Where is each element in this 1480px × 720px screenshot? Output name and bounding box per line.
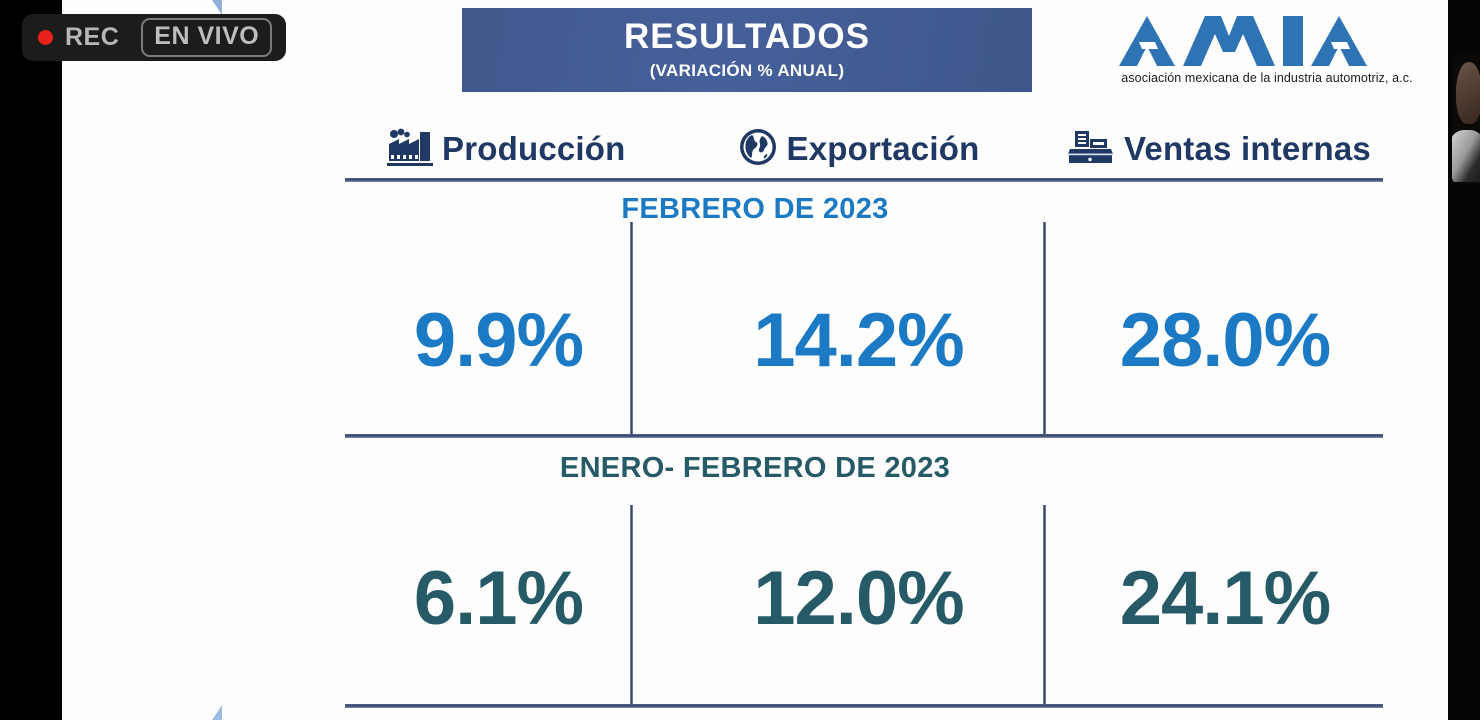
value-ventas-febrero: 28.0% [1065, 297, 1385, 384]
white-curve-shape [62, 0, 312, 720]
value-produccion-febrero: 9.9% [345, 297, 652, 384]
column-header-exportacion: Exportación [652, 127, 1065, 172]
record-dot-icon [38, 30, 53, 45]
live-badge: EN VIVO [141, 18, 272, 57]
divider-bottom-rule [345, 704, 1383, 708]
globe-icon [738, 127, 778, 172]
slide-title-banner: RESULTADOS (VARIACIÓN % ANUAL) [462, 8, 1032, 92]
column-header-ventas-internas: Ventas internas [1065, 127, 1385, 172]
value-row-febrero: 9.9% 14.2% 28.0% [345, 285, 1385, 395]
page-title: RESULTADOS [624, 19, 870, 56]
divider-header-rule [345, 178, 1383, 182]
participant-video-tile[interactable] [1452, 52, 1480, 184]
cash-register-icon [1065, 127, 1115, 172]
rec-label: REC [65, 23, 119, 52]
column-label-exportacion: Exportación [787, 130, 980, 168]
section-label-febrero: FEBRERO DE 2023 [62, 193, 1448, 226]
value-produccion-enero-febrero: 6.1% [345, 555, 652, 642]
value-exportacion-febrero: 14.2% [652, 297, 1065, 384]
column-label-ventas-internas: Ventas internas [1124, 130, 1371, 168]
screen-capture: RESULTADOS (VARIACIÓN % ANUAL) asociació… [0, 0, 1480, 720]
factory-icon [387, 128, 433, 171]
value-ventas-enero-febrero: 24.1% [1065, 555, 1385, 642]
value-exportacion-enero-febrero: 12.0% [652, 555, 1065, 642]
amia-logo-mark [1117, 12, 1417, 70]
participant-body [1452, 130, 1480, 182]
amia-logo: asociación mexicana de la industria auto… [1112, 12, 1422, 92]
section-label-enero-febrero: ENERO- FEBRERO DE 2023 [62, 452, 1448, 485]
letterbox-left [0, 0, 62, 720]
divider-mid-rule [345, 434, 1383, 438]
column-header-produccion: Producción [345, 128, 652, 171]
amia-logo-tagline: asociación mexicana de la industria auto… [1112, 71, 1422, 85]
value-row-enero-febrero: 6.1% 12.0% 24.1% [345, 543, 1385, 653]
column-label-produccion: Producción [442, 130, 626, 168]
participant-head [1456, 62, 1480, 124]
column-headers: Producción Exportación [345, 118, 1385, 180]
page-subtitle: (VARIACIÓN % ANUAL) [650, 61, 845, 81]
recording-status-badge: REC EN VIVO [22, 14, 286, 61]
presentation-slide: RESULTADOS (VARIACIÓN % ANUAL) asociació… [62, 0, 1448, 720]
